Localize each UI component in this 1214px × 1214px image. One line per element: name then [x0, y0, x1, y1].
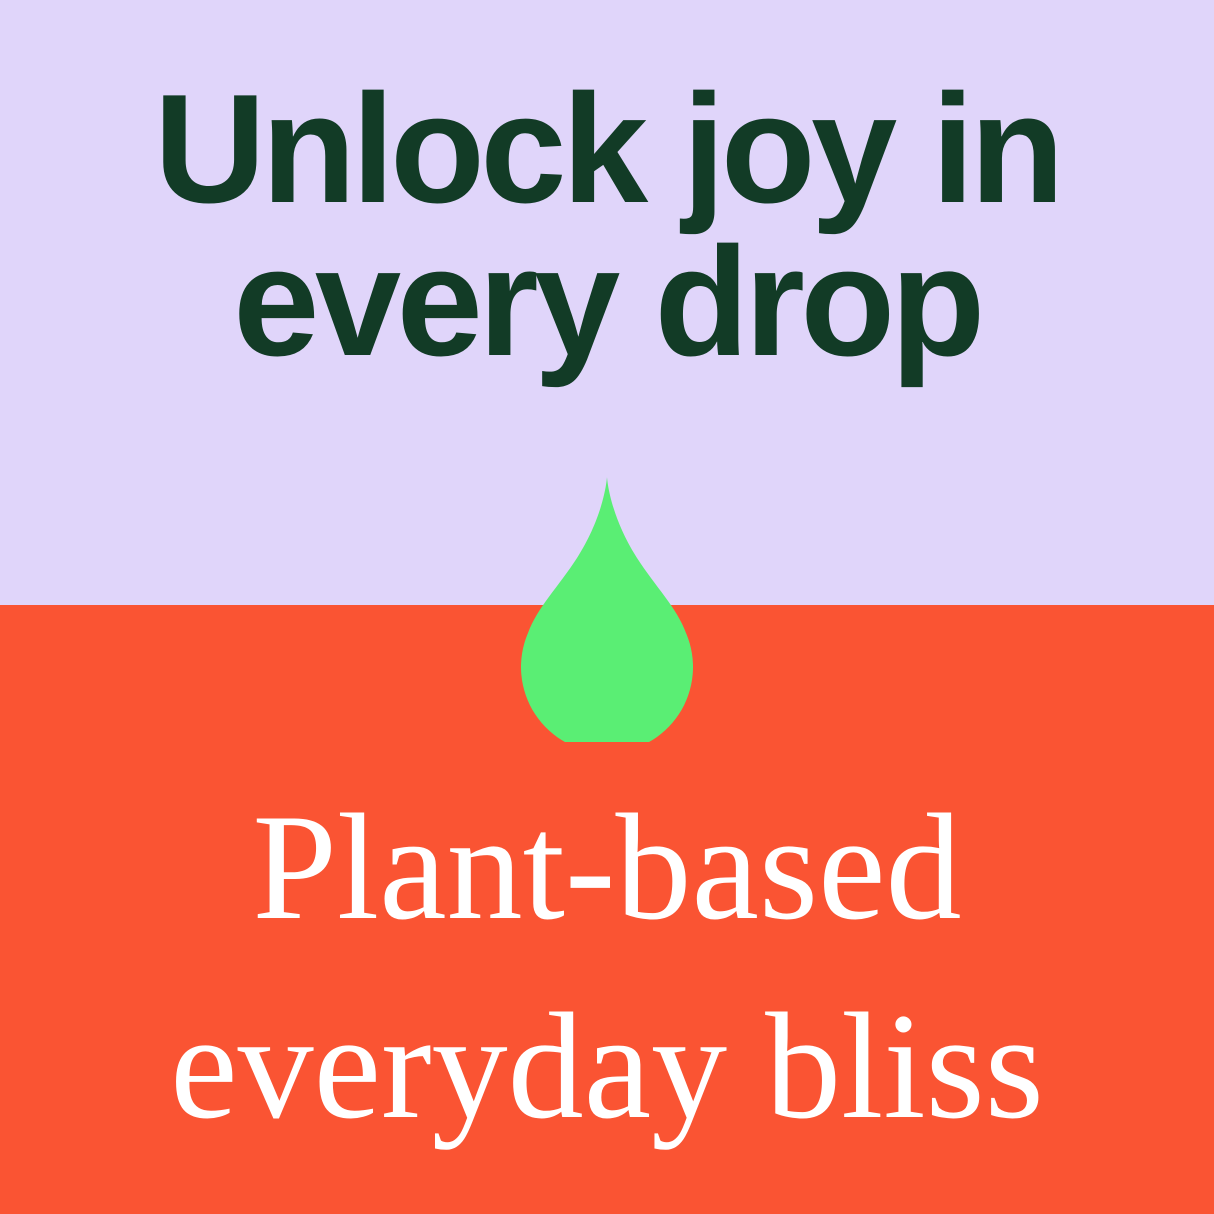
headline-line-1: Unlock joy in [0, 72, 1214, 225]
subhead: Plant-based everyday bliss [0, 768, 1214, 1166]
headline-line-2: every drop [0, 225, 1214, 378]
poster-canvas: Unlock joy in every drop Plant-based eve… [0, 0, 1214, 1214]
headline: Unlock joy in every drop [0, 72, 1214, 379]
subhead-line-2: everyday bliss [0, 967, 1214, 1166]
subhead-line-1: Plant-based [0, 768, 1214, 967]
